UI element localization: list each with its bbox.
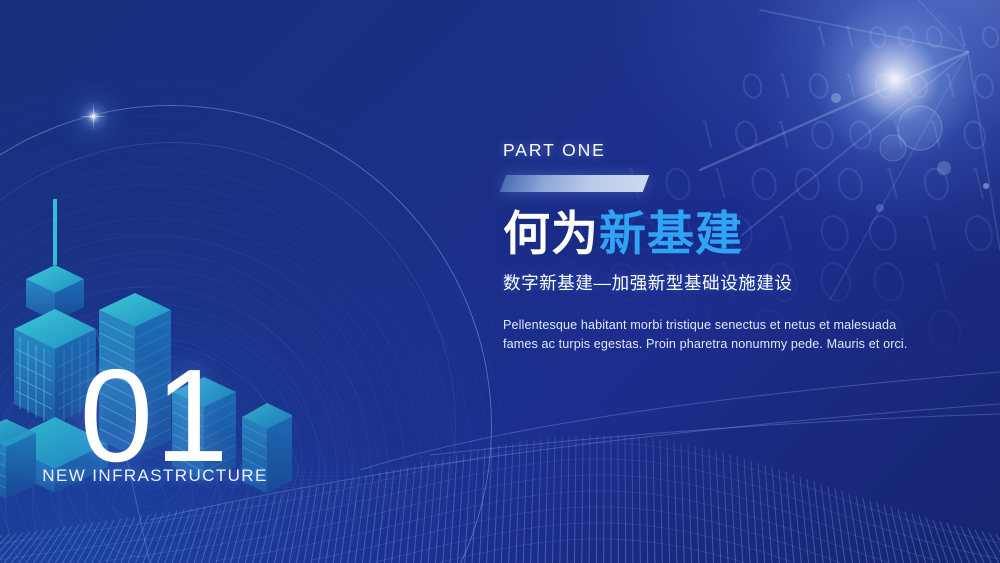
radar-rings-outer [0,73,550,563]
sweeping-arc-outer [0,105,492,563]
presentation-slide: 01 NEW INFRASTRUCTURE PART ONE 何为新基建 数字新… [0,0,1000,563]
title-highlight-part: 新基建 [599,207,743,260]
page-title: 何为新基建 [503,209,933,259]
section-number-block: 01 NEW INFRASTRUCTURE [40,355,270,486]
section-number-caption: NEW INFRASTRUCTURE [40,466,270,486]
page-subtitle: 数字新基建—加强新型基础设施建设 [503,270,933,295]
slide-content: PART ONE 何为新基建 数字新基建—加强新型基础设施建设 Pellente… [503,140,933,354]
section-label: PART ONE [503,140,933,161]
body-paragraph: Pellentesque habitant morbi tristique se… [503,316,919,354]
title-white-part: 何为 [503,207,599,260]
building-left-small [0,419,36,499]
glow-star-icon [92,115,95,118]
section-number: 01 [40,355,270,476]
accent-bar [500,175,650,192]
